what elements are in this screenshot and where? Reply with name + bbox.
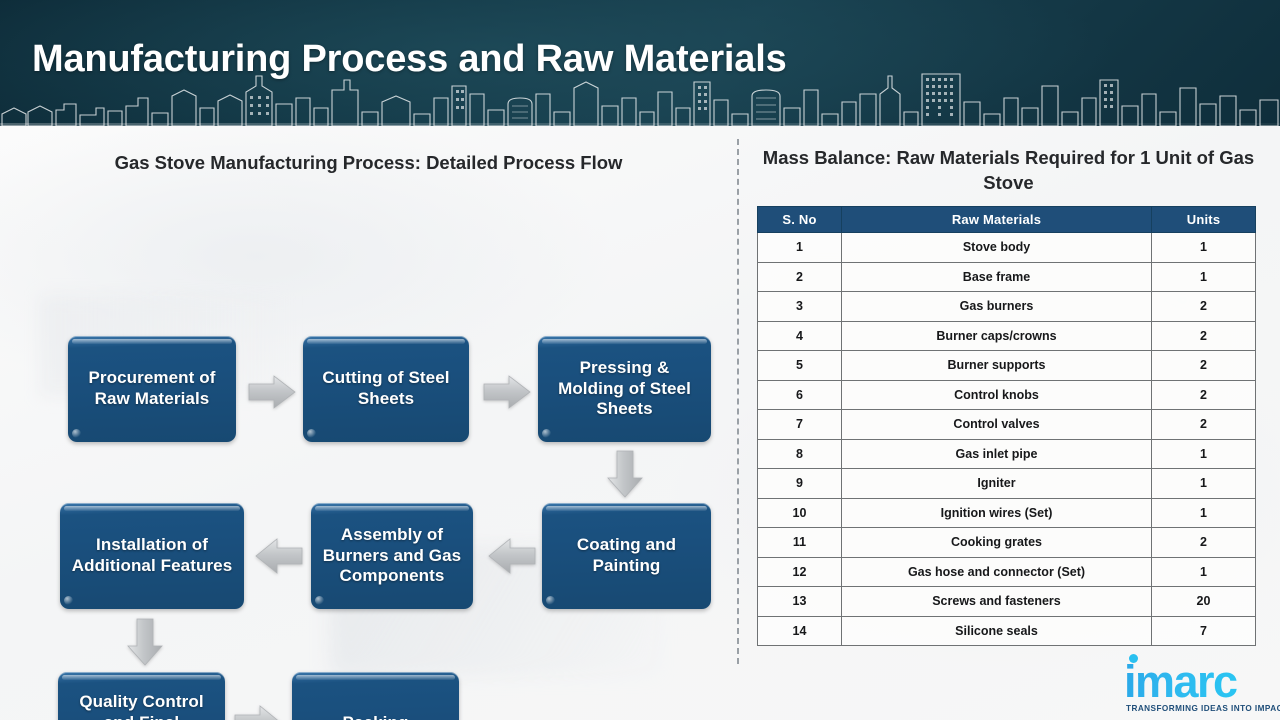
logo-tagline: TRANSFORMING IDEAS INTO IMPACT [1126, 704, 1280, 713]
cell-sno: 11 [758, 528, 842, 558]
cell-material: Igniter [842, 469, 1152, 499]
cell-units: 1 [1152, 498, 1256, 528]
cell-sno: 1 [758, 233, 842, 263]
panel-divider [737, 139, 739, 664]
cell-material: Base frame [842, 262, 1152, 292]
table-title: Mass Balance: Raw Materials Required for… [749, 146, 1268, 196]
table-row: 1Stove body1 [758, 233, 1256, 263]
column-header-units: Units [1152, 207, 1256, 233]
table-body: 1Stove body12Base frame13Gas burners24Bu… [758, 233, 1256, 646]
flow-box-label: Quality Control and Final Inspection [66, 692, 217, 720]
cell-sno: 7 [758, 410, 842, 440]
cell-sno: 5 [758, 351, 842, 381]
table-row: 4Burner caps/crowns2 [758, 321, 1256, 351]
table-row: 13Screws and fasteners20 [758, 587, 1256, 617]
cell-material: Silicone seals [842, 616, 1152, 646]
arrow-left-icon [488, 536, 536, 576]
logo-wordmark: imarc [1124, 659, 1237, 704]
header-banner: Manufacturing Process and Raw Materials [0, 0, 1280, 126]
cell-material: Control knobs [842, 380, 1152, 410]
arrow-right-icon [483, 374, 531, 410]
cell-material: Ignition wires (Set) [842, 498, 1152, 528]
cell-units: 20 [1152, 587, 1256, 617]
cell-units: 2 [1152, 351, 1256, 381]
cell-material: Burner caps/crowns [842, 321, 1152, 351]
imarc-logo: imarc TRANSFORMING IDEAS INTO IMPACT [1124, 652, 1270, 714]
cell-sno: 2 [758, 262, 842, 292]
cell-material: Gas hose and connector (Set) [842, 557, 1152, 587]
table-row: 10Ignition wires (Set)1 [758, 498, 1256, 528]
cell-sno: 9 [758, 469, 842, 499]
table-row: 11Cooking grates2 [758, 528, 1256, 558]
column-header-materials: Raw Materials [842, 207, 1152, 233]
cell-units: 2 [1152, 380, 1256, 410]
table-row: 6Control knobs2 [758, 380, 1256, 410]
cell-sno: 12 [758, 557, 842, 587]
arrow-left-icon [255, 536, 303, 576]
cell-material: Gas burners [842, 292, 1152, 322]
cell-sno: 10 [758, 498, 842, 528]
cell-sno: 8 [758, 439, 842, 469]
flow-box-label: Packing [343, 713, 409, 720]
table-row: 5Burner supports2 [758, 351, 1256, 381]
flow-box-quality-control[interactable]: Quality Control and Final Inspection [58, 672, 225, 720]
flow-box-packing[interactable]: Packing [292, 672, 459, 720]
page-title: Manufacturing Process and Raw Materials [32, 38, 787, 81]
cell-sno: 4 [758, 321, 842, 351]
arrow-right-icon [248, 374, 296, 410]
mass-balance-panel: Mass Balance: Raw Materials Required for… [737, 126, 1280, 720]
cell-units: 1 [1152, 262, 1256, 292]
flow-box-cutting[interactable]: Cutting of Steel Sheets [303, 336, 469, 442]
table-row: 2Base frame1 [758, 262, 1256, 292]
arrow-right-icon [234, 704, 282, 720]
flow-box-label: Coating and Painting [550, 535, 703, 576]
cell-material: Gas inlet pipe [842, 439, 1152, 469]
column-header-sno: S. No [758, 207, 842, 233]
table-row: 7Control valves2 [758, 410, 1256, 440]
cell-material: Screws and fasteners [842, 587, 1152, 617]
table-row: 12Gas hose and connector (Set)1 [758, 557, 1256, 587]
flow-box-installation[interactable]: Installation of Additional Features [60, 503, 244, 609]
cell-sno: 3 [758, 292, 842, 322]
flow-box-pressing[interactable]: Pressing & Molding of Steel Sheets [538, 336, 711, 442]
arrow-down-icon [126, 618, 164, 666]
flow-box-assembly[interactable]: Assembly of Burners and Gas Components [311, 503, 473, 609]
flow-box-label: Assembly of Burners and Gas Components [319, 525, 465, 587]
cell-units: 2 [1152, 292, 1256, 322]
table-row: 9Igniter1 [758, 469, 1256, 499]
flow-box-label: Installation of Additional Features [68, 535, 236, 576]
cell-units: 7 [1152, 616, 1256, 646]
header-bottom-edge [0, 123, 1280, 126]
table-row: 8Gas inlet pipe1 [758, 439, 1256, 469]
cell-units: 1 [1152, 439, 1256, 469]
arrow-down-icon [606, 450, 644, 498]
flow-box-label: Pressing & Molding of Steel Sheets [546, 358, 703, 420]
table-header-row: S. No Raw Materials Units [758, 207, 1256, 233]
flow-box-coating[interactable]: Coating and Painting [542, 503, 711, 609]
raw-materials-table: S. No Raw Materials Units 1Stove body12B… [757, 206, 1256, 646]
flow-box-label: Cutting of Steel Sheets [311, 368, 461, 409]
cell-units: 1 [1152, 233, 1256, 263]
cell-sno: 13 [758, 587, 842, 617]
cell-sno: 6 [758, 380, 842, 410]
cell-units: 2 [1152, 410, 1256, 440]
cell-material: Cooking grates [842, 528, 1152, 558]
cell-material: Stove body [842, 233, 1152, 263]
flow-box-label: Procurement of Raw Materials [76, 368, 228, 409]
cell-units: 1 [1152, 469, 1256, 499]
flow-chart-title: Gas Stove Manufacturing Process: Detaile… [0, 152, 737, 174]
cell-material: Control valves [842, 410, 1152, 440]
cell-units: 1 [1152, 557, 1256, 587]
table-row: 14Silicone seals7 [758, 616, 1256, 646]
table-row: 3Gas burners2 [758, 292, 1256, 322]
flow-box-procurement[interactable]: Procurement of Raw Materials [68, 336, 236, 442]
cell-sno: 14 [758, 616, 842, 646]
cell-units: 2 [1152, 528, 1256, 558]
process-flow-panel: Gas Stove Manufacturing Process: Detaile… [0, 126, 737, 720]
cell-material: Burner supports [842, 351, 1152, 381]
cell-units: 2 [1152, 321, 1256, 351]
